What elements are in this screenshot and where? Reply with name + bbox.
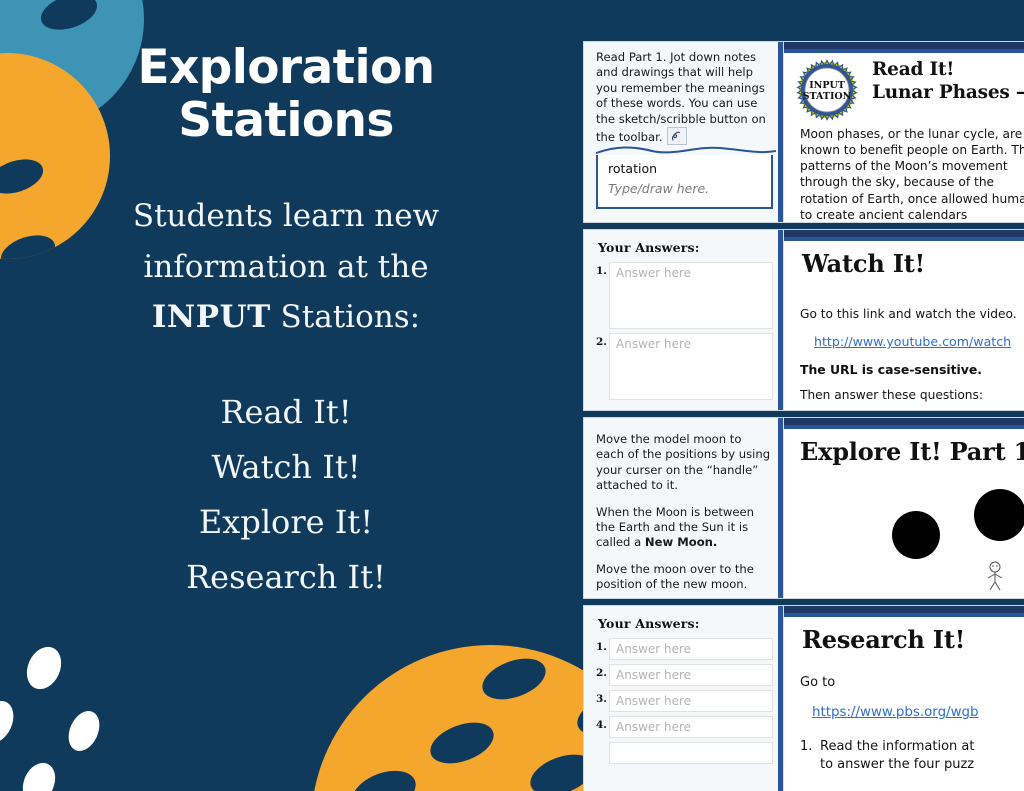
moon-circle-icon[interactable]: [974, 489, 1024, 541]
station-list-item: Research It!: [76, 550, 496, 605]
explore-it-content-pane: Explore It! Part 1: [784, 418, 1024, 598]
wavy-edge-icon: [596, 144, 776, 155]
table-row[interactable]: 3. Answer here: [596, 690, 773, 712]
read-it-notes-text: Read Part 1. Jot down notes and drawings…: [596, 50, 773, 145]
station-list: Read It! Watch It! Explore It! Research …: [76, 385, 496, 605]
research-it-link[interactable]: https://www.pbs.org/wgb: [812, 705, 1024, 720]
input-station-badge-icon: INPUT STATION: [796, 59, 858, 121]
answer-number: 3.: [596, 690, 609, 705]
input-emphasis: INPUT: [152, 299, 271, 335]
explore-it-note-3: Move the moon over to the position of th…: [596, 562, 773, 593]
slide-explore-it[interactable]: Move the model moon to each of the posit…: [584, 418, 1024, 598]
answer-row[interactable]: 1. Answer here: [596, 262, 773, 329]
page-title: Exploration Stations: [66, 42, 506, 147]
explore-it-heading: Explore It! Part 1: [800, 437, 1024, 466]
table-row[interactable]: [596, 742, 773, 764]
slide-canvas: Exploration Stations Students learn new …: [0, 0, 1024, 791]
slide-watch-it[interactable]: Your Answers: 1. Answer here 2. Answer h…: [584, 230, 1024, 410]
read-it-heading-line-2: Lunar Phases –: [872, 82, 1024, 105]
table-row[interactable]: 4. Answer here: [596, 716, 773, 738]
read-it-notes-pane: Read Part 1. Jot down notes and drawings…: [584, 42, 784, 222]
intro-line-3: INPUT Stations:: [76, 292, 496, 343]
read-it-body: Moon phases, or the lunar cycle, are kno…: [800, 126, 1024, 222]
research-it-step-line-2: to answer the four puzz: [820, 756, 975, 774]
watch-it-video-link[interactable]: http://www.youtube.com/watch: [814, 334, 1024, 349]
watch-it-answers-pane: Your Answers: 1. Answer here 2. Answer h…: [584, 230, 784, 410]
station-list-item: Explore It!: [76, 495, 496, 550]
intro-paragraph: Students learn new information at the IN…: [76, 191, 496, 343]
stick-figure-icon: [984, 561, 1006, 596]
explore-it-notes-pane: Move the model moon to each of the posit…: [584, 418, 784, 598]
read-it-heading-line-1: Read It!: [872, 59, 1024, 82]
answer-input[interactable]: Answer here: [609, 638, 773, 660]
answer-number: 1.: [596, 262, 609, 277]
station-list-item: Watch It!: [76, 440, 496, 495]
read-it-content-pane: INPUT STATION Read It! Lunar Phases – Mo…: [784, 42, 1024, 222]
answer-row[interactable]: 2. Answer here: [596, 333, 773, 400]
answer-input[interactable]: Answer here: [609, 690, 773, 712]
answer-input[interactable]: Answer here: [609, 333, 773, 400]
explore-it-note-1: Move the model moon to each of the posit…: [596, 432, 773, 494]
vocab-word: rotation: [608, 161, 761, 176]
answer-input[interactable]: Answer here: [609, 716, 773, 738]
read-it-heading: Read It! Lunar Phases –: [872, 59, 1024, 104]
station-list-item: Read It!: [76, 385, 496, 440]
watch-it-heading: Watch It!: [802, 249, 1024, 278]
vocab-placeholder: Type/draw here.: [608, 181, 761, 196]
research-it-step: 1. Read the information at to answer the…: [800, 738, 1024, 773]
watch-it-content-pane: Watch It! Go to this link and watch the …: [784, 230, 1024, 410]
intro-line-1: Students learn new: [76, 191, 496, 242]
table-row[interactable]: 2. Answer here: [596, 664, 773, 686]
page-title-line-1: Exploration: [66, 42, 506, 95]
answers-title: Your Answers:: [598, 240, 773, 255]
answer-number: 4.: [596, 716, 609, 731]
new-moon-term: New Moon.: [645, 535, 717, 549]
research-it-step-number: 1.: [800, 738, 820, 773]
left-content-column: Exploration Stations Students learn new …: [0, 0, 572, 791]
answer-input[interactable]: Answer here: [609, 664, 773, 686]
slide-research-it[interactable]: Your Answers: 1. Answer here 2. Answer h…: [584, 606, 1024, 791]
svg-text:INPUT: INPUT: [809, 80, 845, 91]
watch-it-followup: Then answer these questions:: [800, 387, 1024, 403]
research-it-step-line-1: Read the information at: [820, 738, 975, 756]
answer-number: 2.: [596, 333, 609, 348]
answers-title: Your Answers:: [598, 616, 773, 631]
slide-read-it[interactable]: Read Part 1. Jot down notes and drawings…: [584, 42, 1024, 222]
slide-thumbnail-stack: Read Part 1. Jot down notes and drawings…: [584, 0, 1024, 791]
answer-number: 1.: [596, 638, 609, 653]
watch-it-intro: Go to this link and watch the video.: [800, 306, 1024, 322]
input-emphasis-tail: Stations:: [271, 299, 420, 335]
answer-number: [596, 742, 609, 745]
vocab-response-box[interactable]: rotation Type/draw here.: [596, 153, 773, 209]
research-it-heading: Research It!: [802, 625, 1024, 654]
moon-circle-icon[interactable]: [892, 511, 940, 559]
research-it-content-pane: Research It! Go to https://www.pbs.org/w…: [784, 606, 1024, 791]
explore-it-note-2: When the Moon is between the Earth and t…: [596, 505, 773, 551]
research-it-answers-pane: Your Answers: 1. Answer here 2. Answer h…: [584, 606, 784, 791]
svg-text:STATION: STATION: [803, 91, 852, 102]
page-title-line-2: Stations: [66, 95, 506, 148]
research-it-intro: Go to: [800, 674, 1024, 691]
intro-line-2: information at the: [76, 242, 496, 293]
answer-number: 2.: [596, 664, 609, 679]
scribble-icon[interactable]: [667, 127, 687, 145]
table-row[interactable]: 1. Answer here: [596, 638, 773, 660]
answer-input[interactable]: [609, 742, 773, 764]
answer-input[interactable]: Answer here: [609, 262, 773, 329]
watch-it-url-note: The URL is case-sensitive.: [800, 362, 1024, 377]
